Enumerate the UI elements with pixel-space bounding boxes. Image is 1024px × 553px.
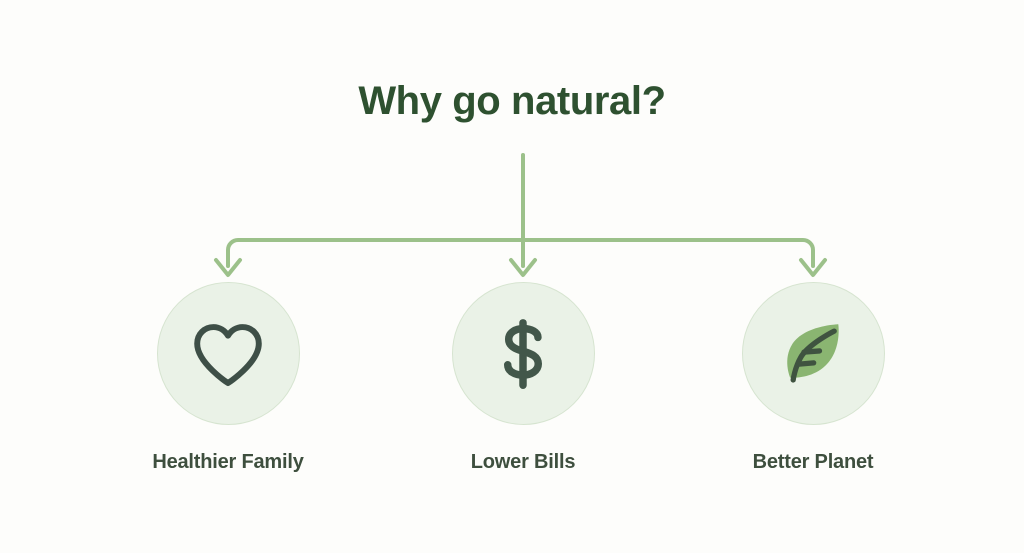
icon-circle-better-planet	[742, 282, 885, 425]
why-go-natural-diagram: Why go natural? Healthier Family	[0, 0, 1024, 553]
arrowhead-right	[801, 260, 825, 275]
branch-label-healthier-family: Healthier Family	[118, 451, 338, 474]
arrowhead-center	[511, 260, 535, 275]
leaf-vein-lower	[798, 362, 814, 363]
branch-bar-right	[523, 240, 813, 266]
leaf-vein-upper	[804, 350, 820, 351]
branch-label-better-planet: Better Planet	[703, 451, 923, 474]
icon-circle-lower-bills	[452, 282, 595, 425]
arrowhead-left	[216, 260, 240, 275]
dollar-sign-icon	[484, 315, 562, 393]
page-title: Why go natural?	[0, 76, 1024, 126]
branch-lower-bills[interactable]: Lower Bills	[413, 282, 633, 474]
leaf-icon	[772, 313, 854, 395]
branch-label-lower-bills: Lower Bills	[413, 451, 633, 474]
heart-icon	[186, 312, 270, 396]
icon-circle-healthier-family	[157, 282, 300, 425]
branch-better-planet[interactable]: Better Planet	[703, 282, 923, 474]
branch-healthier-family[interactable]: Healthier Family	[118, 282, 338, 474]
branch-bar-left	[228, 240, 523, 266]
